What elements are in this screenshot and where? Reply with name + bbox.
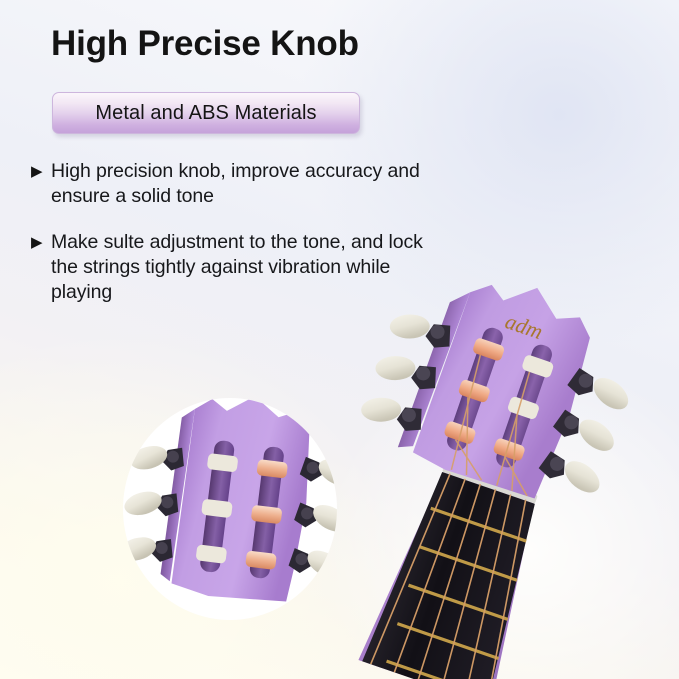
- page-title: High Precise Knob: [51, 24, 359, 64]
- list-item-text: High precision knob, improve accuracy an…: [51, 159, 451, 209]
- triangle-right-icon: ▶: [31, 230, 51, 255]
- list-item: ▶ Make sulte adjustment to the tone, and…: [31, 230, 451, 305]
- list-item-text: Make sulte adjustment to the tone, and l…: [51, 230, 451, 305]
- triangle-right-icon: ▶: [31, 159, 51, 184]
- product-feature-image: adm: [0, 0, 679, 679]
- materials-badge-label: Metal and ABS Materials: [95, 102, 316, 125]
- headstock-closeup-inset: [123, 398, 337, 620]
- materials-badge: Metal and ABS Materials: [52, 92, 360, 134]
- list-item: ▶ High precision knob, improve accuracy …: [31, 159, 451, 209]
- feature-bullet-list: ▶ High precision knob, improve accuracy …: [31, 159, 451, 326]
- guitar-headstock-main: adm: [330, 270, 679, 679]
